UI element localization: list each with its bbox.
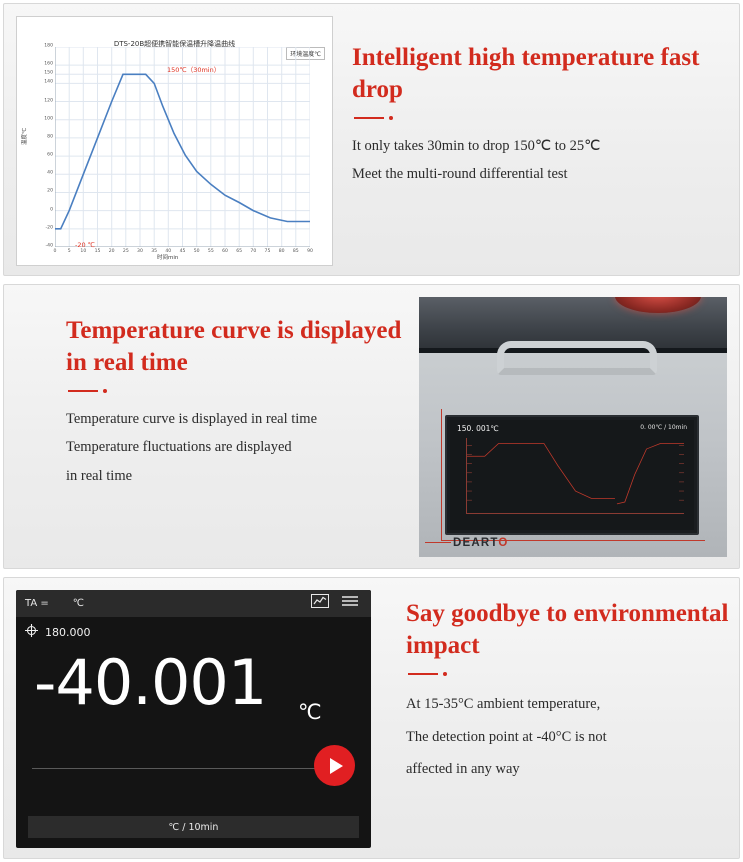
temperature-curve-chart: DTS-20B超便携智能保温槽升降温曲线 环境温度℃ 温度℃ 时间min [16, 16, 333, 266]
product-photo-instrument: 150. 001℃ 0. 00℃ / 10min [419, 297, 727, 557]
chart-xtick: 45 [180, 249, 186, 254]
panel-3-body-line: affected in any way [406, 753, 736, 786]
photo-display-screen: 150. 001℃ 0. 00℃ / 10min [450, 420, 694, 530]
play-icon[interactable] [314, 745, 355, 786]
panel-1-text-column: Intelligent high temperature fast drop I… [352, 42, 732, 189]
feature-panel-realtime-curve: Temperature curve is displayed in real t… [3, 284, 740, 569]
divider-bar [354, 117, 384, 119]
chart-x-axis-label: 时间min [157, 253, 178, 261]
device-setpoint-value: 180.000 [45, 626, 91, 639]
divider-bar [68, 390, 98, 392]
chart-xtick: 10 [80, 249, 86, 254]
chart-xtick: 40 [165, 249, 171, 254]
chart-xtick: 60 [222, 249, 228, 254]
panel-2-divider [68, 389, 426, 393]
divider-dot [103, 389, 107, 393]
screen-plot-frame [466, 438, 684, 514]
hamburger-menu-icon-svg [341, 594, 359, 608]
chart-ytick: 20 [47, 190, 53, 195]
chart-xtick: 35 [151, 249, 157, 254]
device-setpoint-row: 180.000 [25, 624, 91, 640]
chart-ytick: -20 [45, 227, 53, 232]
panel-2-body-line: Temperature fluctuations are displayed [66, 433, 426, 461]
panel-2-text-column: Temperature curve is displayed in real t… [66, 315, 426, 490]
panel-3-text-column: Say goodbye to environmental impact At 1… [406, 598, 736, 786]
device-footer-label: ℃ / 10min [169, 822, 219, 833]
chart-xtick: 70 [250, 249, 256, 254]
chart-ytick: 0 [50, 208, 53, 213]
photo-brand-accent-line [425, 542, 451, 543]
brand-text-accent: O [498, 537, 508, 549]
divider-dot [443, 672, 447, 676]
line-chart-icon-svg [311, 594, 329, 608]
screen-temperature-value: 150. 001℃ [457, 424, 499, 433]
chart-ytick: -40 [45, 245, 53, 250]
divider-dot [389, 116, 393, 120]
photo-brand-wordmark: DEARTO [453, 537, 509, 549]
chart-xtick: 30 [137, 249, 143, 254]
chart-xtick: 80 [279, 249, 285, 254]
feature-panel-high-temp-fast-drop: DTS-20B超便携智能保温槽升降温曲线 环境温度℃ 温度℃ 时间min [3, 3, 740, 276]
chart-xtick: 20 [109, 249, 115, 254]
device-footer-bar: ℃ / 10min [28, 816, 359, 838]
chart-annotation-peak: 150℃（30min） [167, 64, 220, 74]
chart-xtick: 0 [54, 249, 57, 254]
chart-ytick: 60 [47, 154, 53, 159]
chart-y-axis-label: 温度℃ [20, 128, 28, 145]
brand-text: DEART [453, 537, 498, 549]
screen-curve-svg [467, 438, 684, 513]
device-main-reading: -40.001 [34, 652, 266, 714]
chart-plot-area: 180 160 150 140 120 100 80 60 40 20 0 -2… [55, 47, 310, 247]
photo-handle [497, 341, 657, 375]
feature-panel-environmental-impact: TA = ℃ [3, 577, 740, 859]
panel-1-divider [354, 116, 732, 120]
chart-annotation-low: -20 ℃ [75, 241, 95, 249]
chart-xtick: 75 [265, 249, 271, 254]
device-main-reading-unit: ℃ [298, 700, 322, 724]
panel-2-heading: Temperature curve is displayed in real t… [66, 315, 426, 379]
chart-xtick: 50 [194, 249, 200, 254]
panel-1-body-line: Meet the multi-round differential test [352, 160, 732, 188]
device-top-bar: TA = ℃ [16, 590, 371, 617]
chart-xtick: 25 [123, 249, 129, 254]
chart-ytick: 150 [44, 72, 53, 77]
play-icon-triangle [330, 758, 343, 774]
chart-inner: DTS-20B超便携智能保温槽升降温曲线 环境温度℃ 温度℃ 时间min [17, 17, 332, 265]
chart-ytick: 100 [44, 117, 53, 122]
panel-3-divider [408, 672, 736, 676]
panel-3-heading: Say goodbye to environmental impact [406, 598, 736, 662]
divider-bar [408, 673, 438, 675]
chart-ytick: 140 [44, 81, 53, 86]
screen-rate-value: 0. 00℃ / 10min [640, 424, 687, 433]
chart-xtick: 90 [307, 249, 313, 254]
chart-ytick: 120 [44, 99, 53, 104]
chart-ytick: 180 [44, 45, 53, 50]
panel-2-body-line: in real time [66, 462, 426, 490]
chart-ytick: 80 [47, 136, 53, 141]
chart-ytick: 160 [44, 63, 53, 68]
photo-accent-line-vertical [441, 409, 442, 541]
chart-ytick: 40 [47, 172, 53, 177]
panel-1-body-line: It only takes 30min to drop 150℃ to 25℃ [352, 132, 732, 160]
chart-xtick: 5 [68, 249, 71, 254]
chart-xtick: 55 [208, 249, 214, 254]
photo-display-bezel: 150. 001℃ 0. 00℃ / 10min [445, 415, 699, 535]
line-chart-icon[interactable] [311, 594, 329, 613]
chart-xtick: 85 [293, 249, 299, 254]
panel-3-body-line: The detection point at -40°C is not [406, 721, 736, 754]
panel-1-heading: Intelligent high temperature fast drop [352, 42, 732, 106]
chart-xtick: 65 [236, 249, 242, 254]
chart-xtick: 15 [95, 249, 101, 254]
device-unit-label: ℃ [73, 598, 84, 609]
device-ta-label: TA = [25, 598, 49, 609]
crosshair-icon [25, 624, 38, 640]
hamburger-menu-icon[interactable] [341, 594, 359, 613]
panel-2-body-line: Temperature curve is displayed in real t… [66, 405, 426, 433]
crosshair-icon-svg [25, 624, 38, 637]
panel-3-body-line: At 15-35°C ambient temperature, [406, 688, 736, 721]
device-display-panel: TA = ℃ [16, 590, 371, 848]
device-separator [32, 768, 354, 769]
chart-svg [55, 47, 310, 247]
screen-top-row: 150. 001℃ 0. 00℃ / 10min [457, 424, 687, 433]
